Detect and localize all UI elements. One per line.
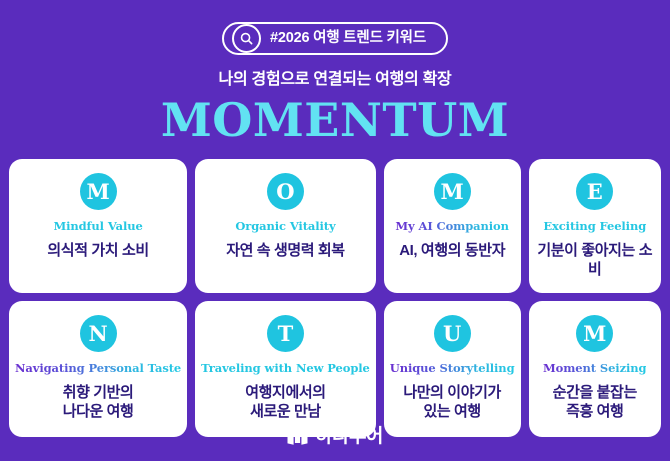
card-english-label: Moment Seizing [543,363,646,375]
card-letter-badge: T [267,315,304,352]
headline-title: MOMENTUM [161,97,509,143]
keyword-card[interactable]: E Exciting Feeling 기분이 좋아지는 소비 [529,159,661,293]
card-english-label: Exciting Feeling [543,221,646,233]
keyword-card[interactable]: M My AI Companion AI, 여행의 동반자 [384,159,521,293]
card-korean-text: AI, 여행의 동반자 [399,241,505,261]
headline-subtitle: 나의 경험으로 연결되는 여행의 확장 [219,72,452,88]
card-english-label: Unique Storytelling [390,363,515,375]
card-letter-badge: O [267,173,304,210]
hanatour-logo-icon [287,427,308,446]
search-keyword-text: #2026 여행 트렌드 키워드 [270,31,426,46]
card-letter-badge: E [576,173,613,210]
card-korean-text: 기분이 좋아지는 소비 [535,241,655,281]
card-english-label: Organic Vitality [235,221,335,233]
card-letter-badge: M [576,315,613,352]
card-korean-text: 의식적 가치 소비 [47,241,148,261]
card-korean-text: 자연 속 생명력 회복 [226,241,345,261]
keyword-card[interactable]: N Navigating Personal Taste 취향 기반의 나다운 여… [9,301,187,437]
poster-root: #2026 여행 트렌드 키워드 나의 경험으로 연결되는 여행의 확장 MOM… [0,0,670,461]
card-korean-text: 순간을 붙잡는 즉흥 여행 [553,383,637,423]
card-english-label: Mindful Value [53,221,142,233]
card-korean-text: 나만의 이야기가 있는 여행 [403,383,501,423]
keyword-card[interactable]: U Unique Storytelling 나만의 이야기가 있는 여행 [384,301,521,437]
keyword-card[interactable]: M Moment Seizing 순간을 붙잡는 즉흥 여행 [529,301,661,437]
hanatour-logo-text: 하나투어 [315,427,383,446]
keyword-card[interactable]: O Organic Vitality 자연 속 생명력 회복 [195,159,376,293]
keyword-card[interactable]: M Mindful Value 의식적 가치 소비 [9,159,187,293]
card-letter-badge: M [80,173,117,210]
card-korean-text: 취향 기반의 나다운 여행 [63,383,134,423]
card-letter-badge: U [434,315,471,352]
card-english-label: Navigating Personal Taste [15,363,181,375]
keyword-search-pill[interactable]: #2026 여행 트렌드 키워드 [222,22,448,55]
card-letter-badge: N [80,315,117,352]
card-english-label: My AI Companion [395,221,508,233]
card-korean-text: 여행지에서의 새로운 만남 [245,383,325,423]
keyword-card[interactable]: T Traveling with New People 여행지에서의 새로운 만… [195,301,376,437]
keyword-card-grid: M Mindful Value 의식적 가치 소비 O Organic Vita… [9,159,661,437]
footer-brand: 하나투어 [0,427,670,446]
card-letter-badge: M [434,173,471,210]
search-icon [232,24,261,53]
card-english-label: Traveling with New People [201,363,370,375]
